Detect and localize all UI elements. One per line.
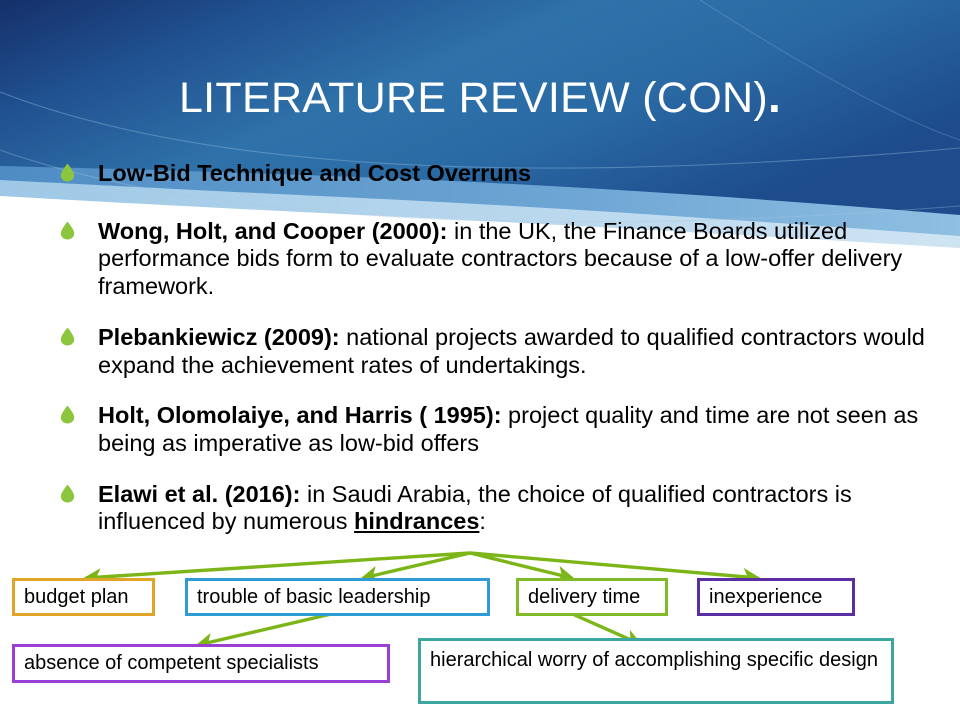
presentation-slide: LITERATURE REVIEW (CON). Low-Bid Techniq… [0,0,960,720]
factor-box-delivery-time[interactable]: delivery time [516,578,668,616]
bullet-4-rest-b: : [479,508,486,534]
factor-box-delivery-time-label: delivery time [528,585,640,610]
arrow-to-absence-specialists [198,611,344,645]
factor-box-hierarchical-worry[interactable]: hierarchical worry of accomplishing spec… [418,638,894,704]
factor-box-trouble-leadership-label: trouble of basic leadership [197,585,430,610]
teardrop-bullet-icon [60,327,75,346]
bullet-item-2: Plebankiewicz (2009): national projects … [52,324,932,379]
factor-box-inexperience[interactable]: inexperience [697,578,855,616]
bullet-item-3: Holt, Olomolaiye, and Harris ( 1995): pr… [52,402,932,457]
teardrop-bullet-icon [60,405,75,424]
factor-box-hierarchical-worry-label: hierarchical worry of accomplishing spec… [430,648,878,673]
factor-box-absence-specialists[interactable]: absence of competent specialists [12,644,390,683]
teardrop-bullet-icon [60,163,75,182]
bullet-item-1: Wong, Holt, and Cooper (2000): in the UK… [52,218,932,301]
slide-title-text: LITERATURE REVIEW (CON) [179,74,768,122]
bullet-4-bold: Elawi et al. (2016): [98,481,300,507]
teardrop-bullet-icon [60,221,75,240]
teardrop-bullet-icon [60,484,75,503]
bullet-2-bold: Plebankiewicz (2009): [98,324,340,350]
factor-box-budget-plan-label: budget plan [24,585,129,610]
bullet-item-4: Elawi et al. (2016): in Saudi Arabia, th… [52,481,932,536]
factor-box-budget-plan[interactable]: budget plan [12,578,155,616]
factor-box-inexperience-label: inexperience [709,585,822,610]
factor-box-absence-specialists-label: absence of competent specialists [24,651,319,676]
bullet-item-0: Low-Bid Technique and Cost Overruns [52,160,932,188]
slide-title-period: . [768,70,781,122]
factor-box-trouble-leadership[interactable]: trouble of basic leadership [185,578,490,616]
bullet-3-bold: Holt, Olomolaiye, and Harris ( 1995): [98,402,502,428]
bullet-0-bold: Low-Bid Technique and Cost Overruns [98,160,531,186]
slide-title: LITERATURE REVIEW (CON). [0,72,960,121]
bullet-1-bold: Wong, Holt, and Cooper (2000): [98,218,447,244]
bullet-4-underlined-term: hindrances [354,508,479,534]
bullet-list: Low-Bid Technique and Cost Overruns Wong… [52,160,932,559]
